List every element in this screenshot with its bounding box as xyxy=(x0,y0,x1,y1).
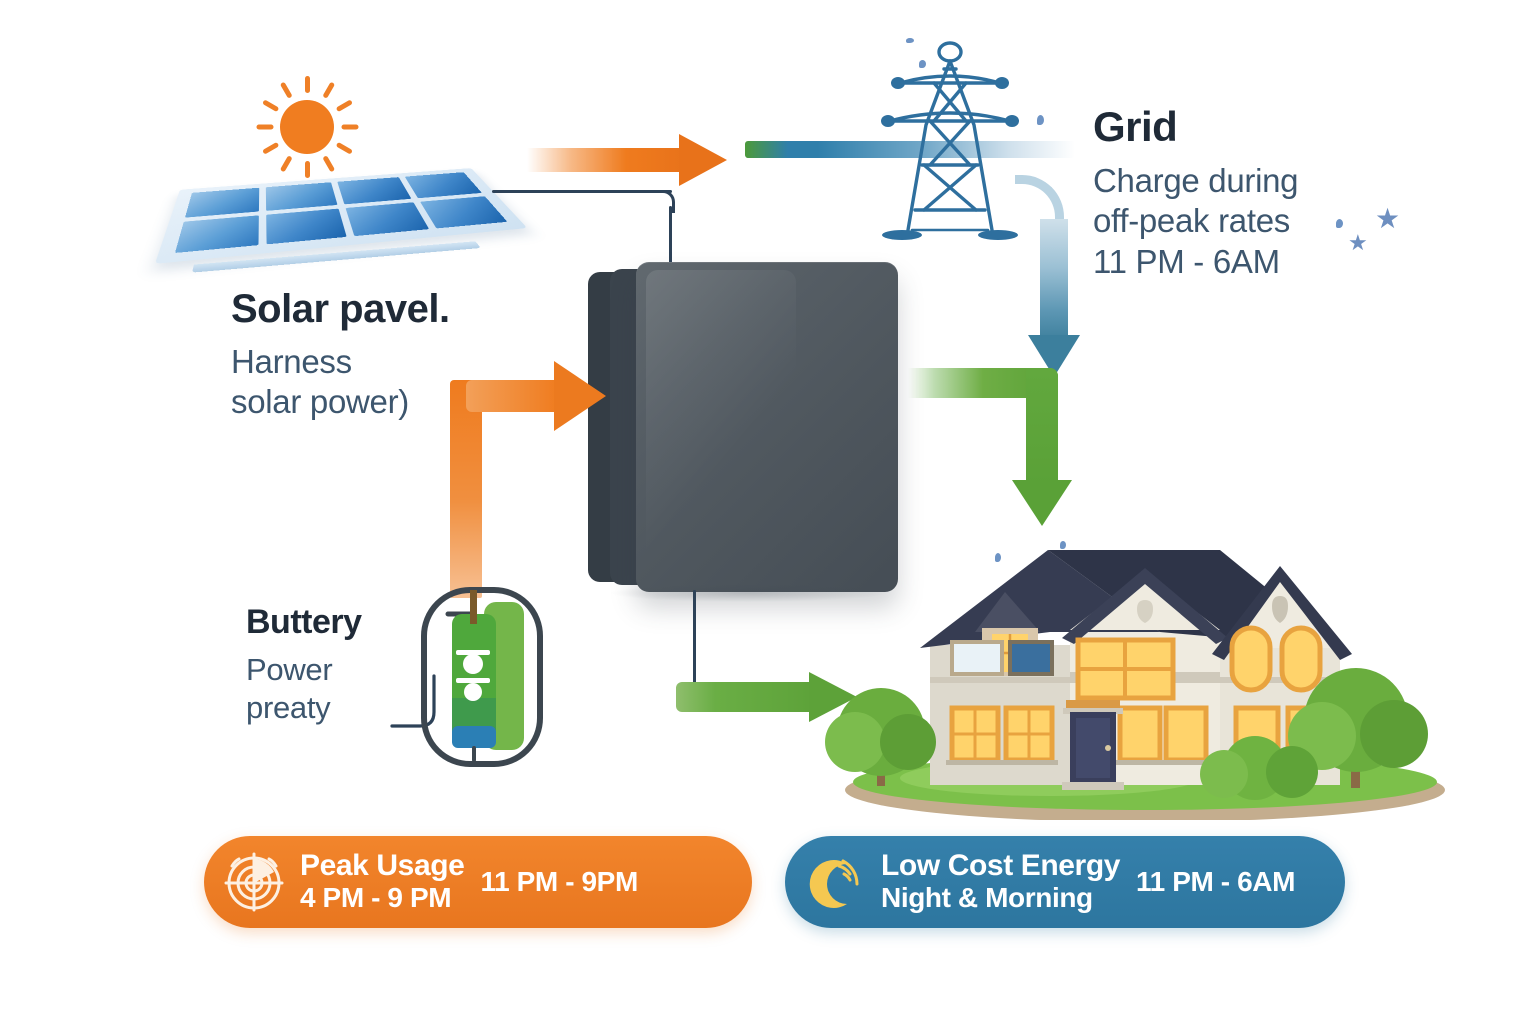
grid-title: Grid xyxy=(1093,105,1393,149)
battery-icon xyxy=(418,580,546,772)
clock-gauge-icon xyxy=(222,850,286,914)
transmission-tower-icon xyxy=(860,25,1040,255)
house-icon xyxy=(800,520,1460,820)
solar-label-block: Solar pavel. Harness solar power) xyxy=(231,288,481,423)
legend-peak-time: 11 PM - 9PM xyxy=(480,866,637,898)
grid-description: Charge during off-peak rates 11 PM - 6AM xyxy=(1093,161,1393,282)
blue-down-arrow-icon xyxy=(1015,175,1111,375)
star-icon: ★ xyxy=(1348,232,1368,254)
legend-peak-line-1: Peak Usage xyxy=(300,850,464,882)
battery-title: Buttery xyxy=(246,605,436,641)
legend-low-line-2: Night & Morning xyxy=(881,882,1120,913)
legend-peak-line-2: 4 PM - 9 PM xyxy=(300,882,464,913)
legend-text-peak: Peak Usage 4 PM - 9 PM xyxy=(300,850,464,913)
solar-description: Harness solar power) xyxy=(231,342,481,423)
star-icon: ★ xyxy=(1375,205,1400,233)
legend-low-line-1: Low Cost Energy xyxy=(881,850,1120,882)
solar-desc-line-1: Harness xyxy=(231,342,481,382)
solar-desc-line-2: solar power) xyxy=(231,382,481,422)
legend-low-time: 11 PM - 6AM xyxy=(1136,866,1295,898)
legend-pill-peak-usage[interactable]: Peak Usage 4 PM - 9 PM 11 PM - 9PM xyxy=(204,836,752,928)
speck-icon xyxy=(919,60,926,68)
speck-icon xyxy=(1336,219,1343,228)
crescent-moon-icon xyxy=(803,850,867,914)
orange-elbow-arrow-icon xyxy=(450,358,610,598)
speck-icon xyxy=(1037,115,1044,125)
grid-desc-line-1: Charge during xyxy=(1093,161,1393,201)
green-elbow-arrow-icon xyxy=(908,368,1088,533)
infographic-canvas: Solar pavel. Harness solar power) xyxy=(0,0,1536,1024)
grid-label-block: Grid Charge during off-peak rates 11 PM … xyxy=(1093,105,1393,282)
orange-arrow-right-icon xyxy=(527,134,727,186)
solar-panel-icon xyxy=(176,145,506,270)
legend-pill-low-cost-energy[interactable]: Low Cost Energy Night & Morning 11 PM - … xyxy=(785,836,1345,928)
speck-icon xyxy=(906,38,914,43)
legend-text-low: Low Cost Energy Night & Morning xyxy=(881,850,1120,913)
solar-title: Solar pavel. xyxy=(231,288,481,330)
